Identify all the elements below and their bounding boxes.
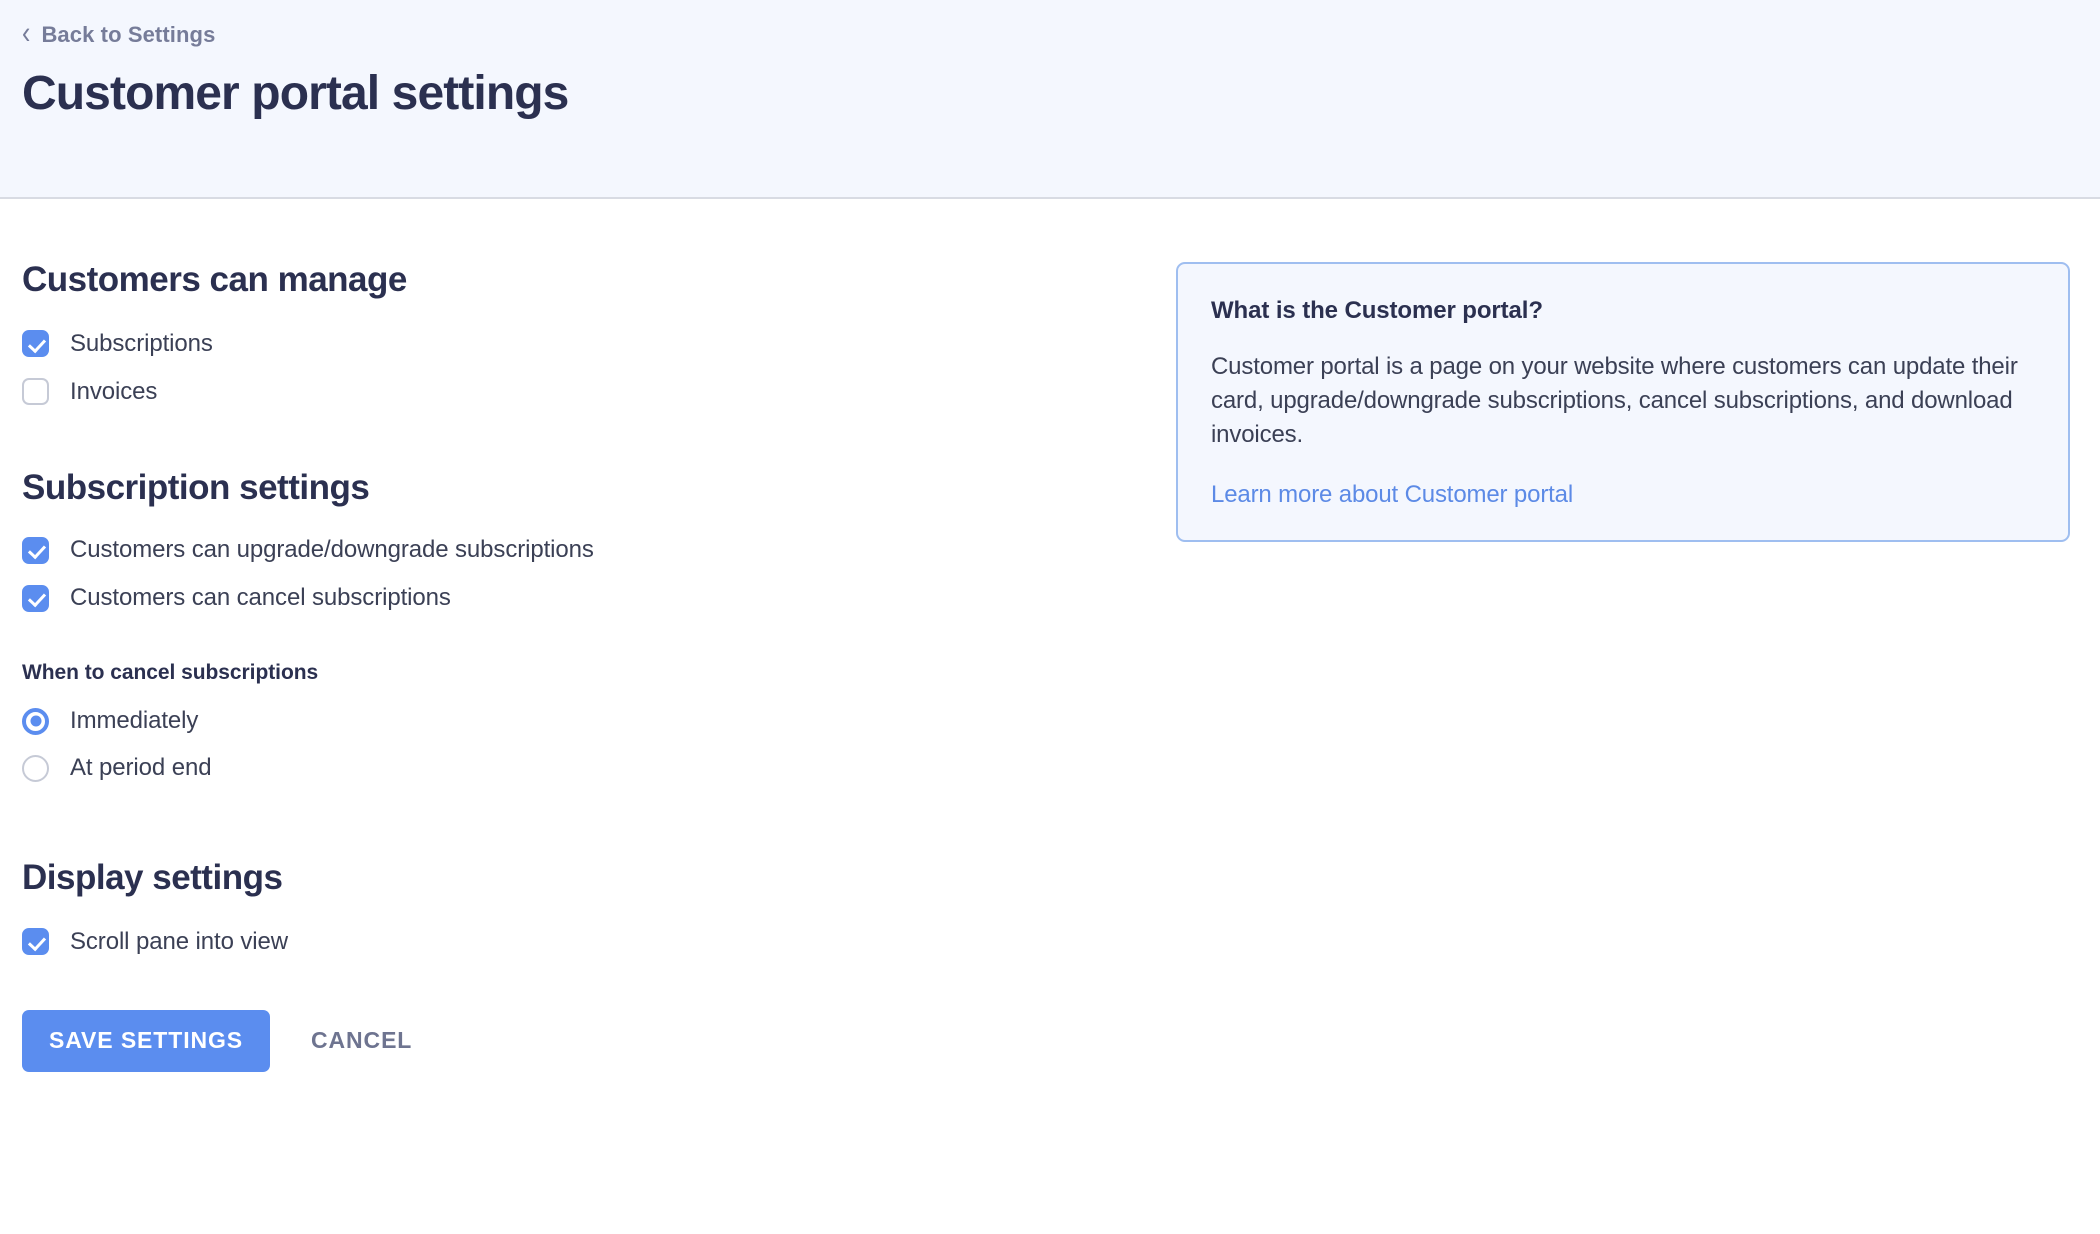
- checkbox-row-subscriptions[interactable]: Subscriptions: [22, 327, 1102, 361]
- radio-label-immediately: Immediately: [70, 709, 198, 733]
- checkbox-subscriptions[interactable]: [22, 330, 49, 357]
- checkbox-label-subscriptions: Subscriptions: [70, 332, 213, 356]
- section-title-customers-can-manage: Customers can manage: [22, 261, 1102, 300]
- checkbox-row-invoices[interactable]: Invoices: [22, 375, 1102, 409]
- back-to-settings-label: Back to Settings: [41, 24, 215, 46]
- radio-label-at-period-end: At period end: [70, 756, 211, 780]
- display-settings-options: Scroll pane into view: [22, 925, 1102, 959]
- customers-can-manage-options: Subscriptions Invoices: [22, 327, 1102, 409]
- info-panel-body: Customer portal is a page on your websit…: [1211, 350, 2035, 452]
- form-actions: SAVE SETTINGS CANCEL: [22, 1010, 1102, 1072]
- checkbox-cancel-subscriptions[interactable]: [22, 585, 49, 612]
- checkbox-invoices[interactable]: [22, 378, 49, 405]
- when-to-cancel-group: When to cancel subscriptions Immediately…: [22, 662, 1102, 785]
- radio-row-immediately[interactable]: Immediately: [22, 704, 1102, 738]
- checkbox-row-scroll-pane-into-view[interactable]: Scroll pane into view: [22, 925, 1102, 959]
- back-to-settings-link[interactable]: ‹ Back to Settings: [22, 22, 215, 47]
- when-to-cancel-label: When to cancel subscriptions: [22, 662, 1102, 683]
- section-title-subscription-settings: Subscription settings: [22, 469, 1102, 508]
- checkbox-label-upgrade-downgrade: Customers can upgrade/downgrade subscrip…: [70, 538, 594, 562]
- chevron-left-icon: ‹: [22, 18, 30, 49]
- info-panel-customer-portal: What is the Customer portal? Customer po…: [1176, 262, 2070, 542]
- page-body: Customers can manage Subscriptions Invoi…: [0, 199, 2100, 1234]
- radio-immediately[interactable]: [22, 708, 49, 735]
- info-panel-title: What is the Customer portal?: [1211, 299, 2035, 323]
- page-header: ‹ Back to Settings Customer portal setti…: [0, 0, 2100, 199]
- customer-portal-settings-page: ‹ Back to Settings Customer portal setti…: [0, 0, 2100, 1234]
- checkbox-label-scroll-pane-into-view: Scroll pane into view: [70, 930, 288, 954]
- learn-more-link[interactable]: Learn more about Customer portal: [1211, 483, 1573, 507]
- radio-row-at-period-end[interactable]: At period end: [22, 751, 1102, 785]
- radio-at-period-end[interactable]: [22, 755, 49, 782]
- checkbox-label-cancel-subscriptions: Customers can cancel subscriptions: [70, 586, 451, 610]
- section-title-display-settings: Display settings: [22, 859, 1102, 898]
- checkbox-scroll-pane-into-view[interactable]: [22, 928, 49, 955]
- settings-form: Customers can manage Subscriptions Invoi…: [22, 261, 1102, 1072]
- checkbox-label-invoices: Invoices: [70, 380, 157, 404]
- page-title: Customer portal settings: [22, 67, 2100, 121]
- checkbox-row-cancel-subscriptions[interactable]: Customers can cancel subscriptions: [22, 581, 1102, 615]
- save-settings-button[interactable]: SAVE SETTINGS: [22, 1010, 270, 1072]
- subscription-settings-options: Customers can upgrade/downgrade subscrip…: [22, 533, 1102, 615]
- checkbox-upgrade-downgrade[interactable]: [22, 537, 49, 564]
- checkbox-row-upgrade-downgrade[interactable]: Customers can upgrade/downgrade subscrip…: [22, 533, 1102, 567]
- cancel-button[interactable]: CANCEL: [284, 1010, 439, 1072]
